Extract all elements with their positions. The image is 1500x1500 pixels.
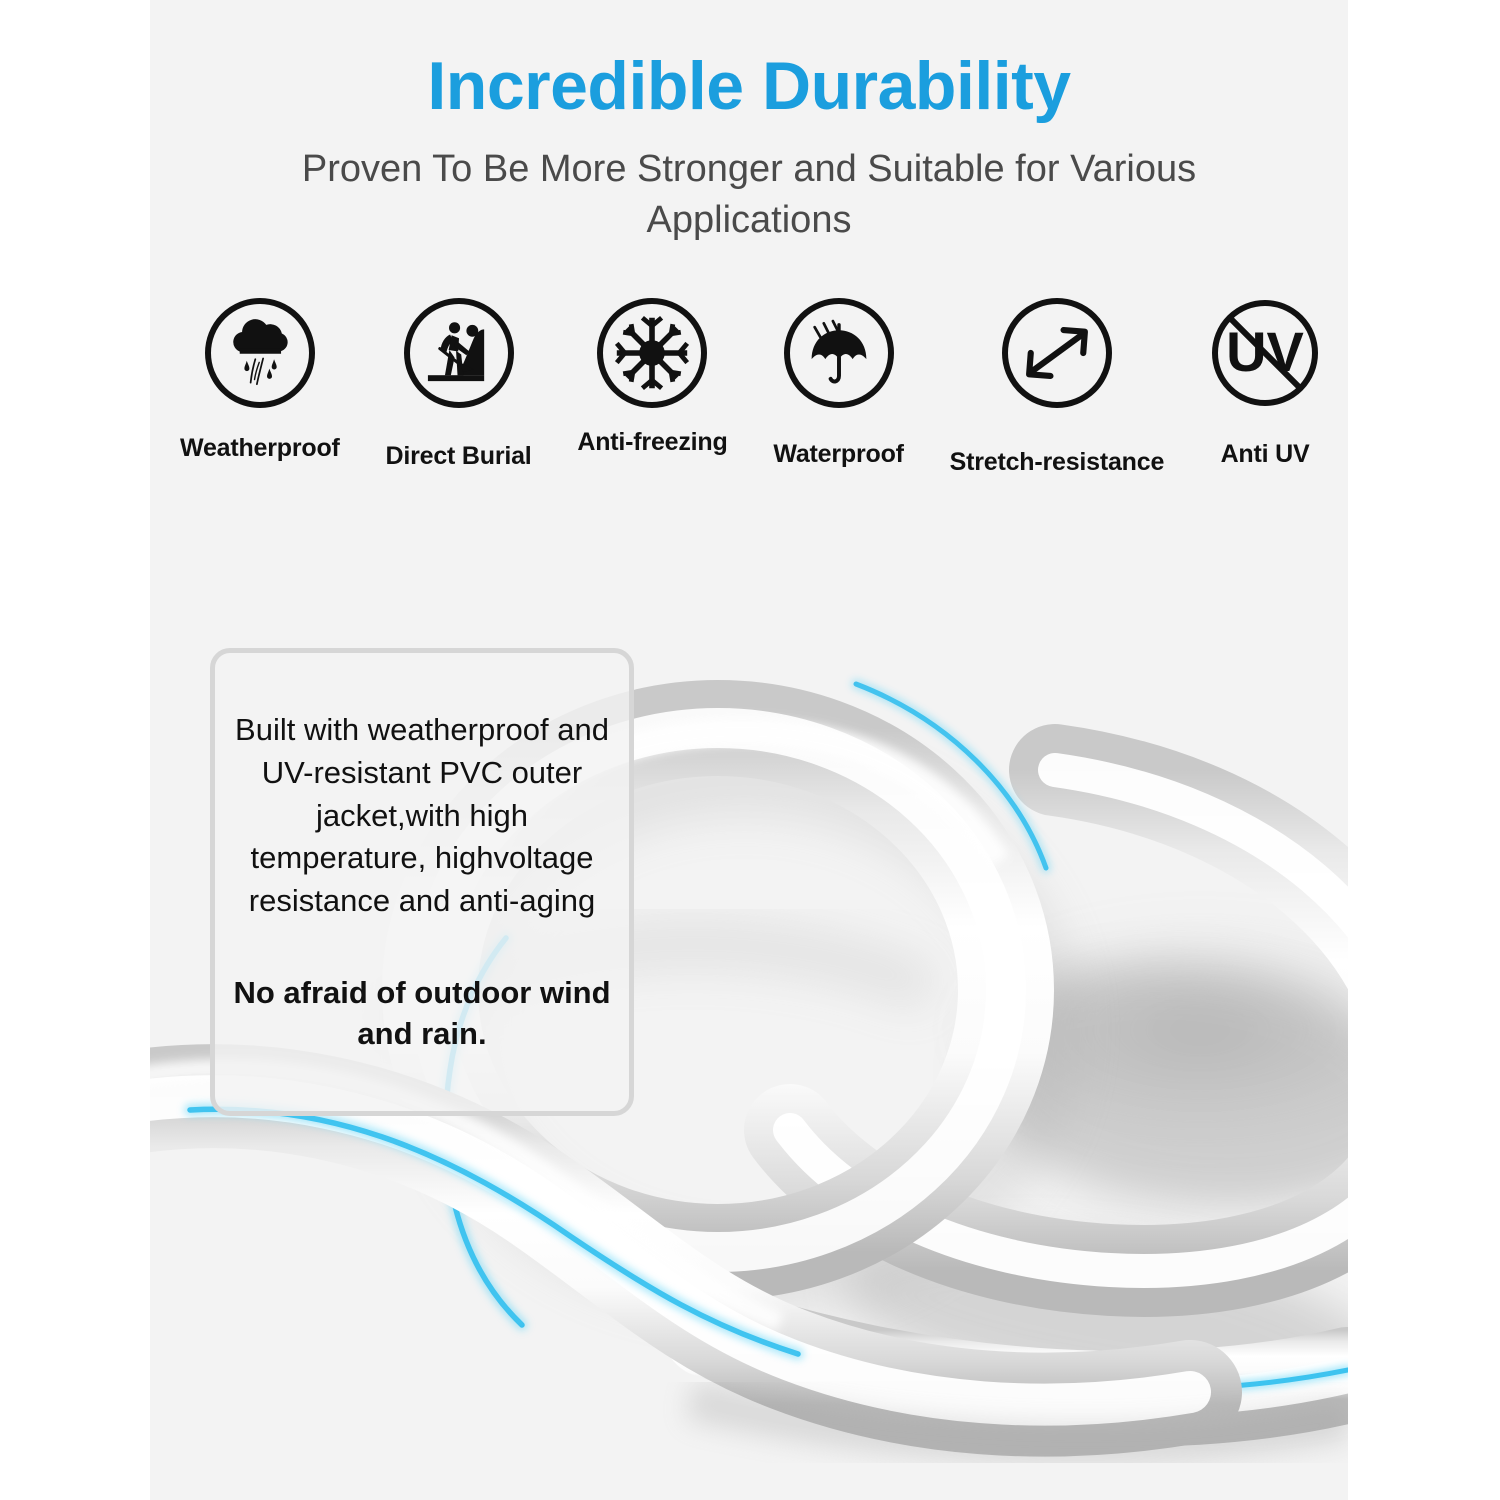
feature-item-direct-burial: Direct Burial [385, 298, 531, 471]
rain-cloud-icon [205, 298, 315, 408]
feature-list: Weatherproof [180, 298, 1320, 477]
double-arrow-icon [1002, 298, 1112, 408]
infographic-canvas: Incredible Durability Proven To Be More … [150, 0, 1348, 1500]
no-uv-icon: UV [1210, 298, 1320, 408]
callout-emphasis-text: No afraid of outdoor wind and rain. [227, 973, 617, 1055]
snowflake-icon [597, 298, 707, 408]
header: Incredible Durability Proven To Be More … [150, 0, 1348, 247]
feature-item-weatherproof: Weatherproof [180, 298, 340, 463]
feature-item-anti-uv: UV Anti UV [1210, 298, 1320, 469]
feature-item-stretch-resistance: Stretch-resistance [950, 298, 1165, 477]
callout-box: Built with weatherproof and UV-resistant… [210, 648, 634, 1116]
feature-label: Anti-freezing [577, 428, 727, 457]
worker-digging-icon [404, 298, 514, 408]
page-title: Incredible Durability [150, 0, 1348, 120]
feature-label: Weatherproof [180, 434, 340, 463]
feature-label: Anti UV [1221, 440, 1310, 469]
feature-item-waterproof: Waterproof [773, 298, 903, 469]
callout-body-text: Built with weatherproof and UV-resistant… [227, 709, 617, 923]
page-subtitle: Proven To Be More Stronger and Suitable … [299, 120, 1199, 247]
feature-label: Waterproof [773, 440, 903, 469]
feature-label: Direct Burial [385, 442, 531, 471]
umbrella-rain-icon [784, 298, 894, 408]
feature-item-anti-freezing: Anti-freezing [577, 298, 727, 457]
